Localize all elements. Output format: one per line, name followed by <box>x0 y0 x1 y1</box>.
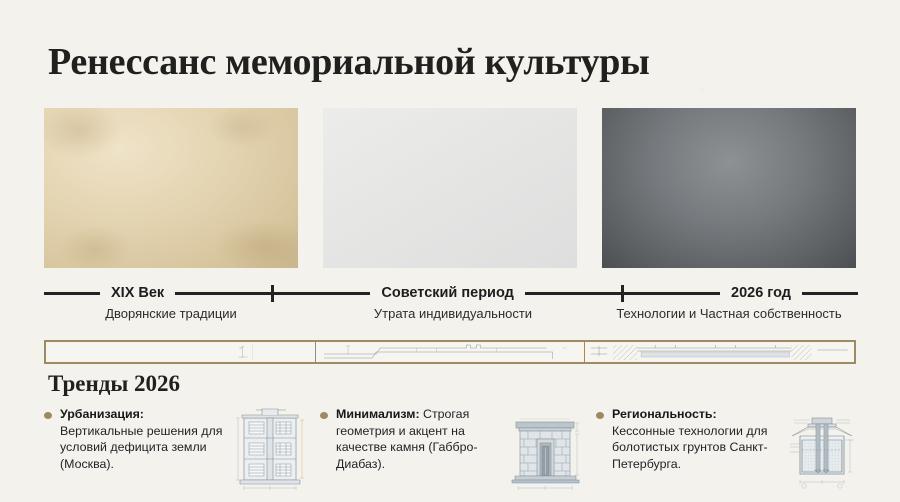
trend-term-1: Урбанизация: <box>60 407 144 421</box>
blueprint-cell-right <box>585 342 854 362</box>
figure-soviet-concrete-box <box>323 108 577 268</box>
timeline-segment-2b <box>624 292 720 295</box>
trends-list: Урбанизация: Вертикальные решения для ус… <box>44 406 858 498</box>
diagram-caisson-foundation-section <box>786 406 858 492</box>
timeline-axis: XIX Век Советский период 2026 год <box>44 285 858 301</box>
blueprint-band <box>44 340 856 364</box>
timeline-subcaptions: Дворянские традиции Утрата индивидуально… <box>44 307 858 327</box>
trend-text-3: Региональность: Кессонные технологии для… <box>608 406 778 498</box>
caisson-foundation-drawing <box>786 406 858 492</box>
figure-neoclassical-mausoleum-sketch <box>44 108 298 268</box>
stone-mausoleum-elevation-drawing <box>510 406 582 492</box>
trend-item-minimalism: Минимализм: Строгая геометрия и акцент н… <box>314 406 590 498</box>
figure-row <box>44 108 856 268</box>
timeline-label-3: 2026 год <box>720 286 802 301</box>
figure-modern-black-granite-mausoleum <box>602 108 856 268</box>
diagram-stone-block-mausoleum-elevation <box>510 406 582 492</box>
blueprint-cell-middle <box>316 342 586 362</box>
trend-body-3: Кессонные технологии для болотистых грун… <box>612 424 768 471</box>
dark-studio-background <box>602 108 856 268</box>
sepia-aging-stains <box>44 108 298 268</box>
timeline-sub-2: Утрата индивидуальности <box>374 307 532 320</box>
slide-root: Ренессанс мемориальной культуры <box>0 0 900 502</box>
bullet-dot-icon <box>320 412 328 419</box>
bullet-dot-icon <box>44 412 52 419</box>
timeline-segment-2a <box>525 292 621 295</box>
timeline-segment-1b <box>274 292 370 295</box>
section-drawing-right <box>585 342 854 362</box>
timeline-segment-1a <box>175 292 271 295</box>
grey-studio-background <box>323 108 577 268</box>
timeline-segment-start <box>44 292 100 295</box>
trend-term-2: Минимализм: <box>336 407 420 421</box>
trend-body-1: Вертикальные решения для условий дефицит… <box>60 424 222 471</box>
section-drawing-middle <box>316 342 585 362</box>
page-title: Ренессанс мемориальной культуры <box>48 40 650 84</box>
blueprint-cell-left <box>46 342 316 362</box>
trend-term-3: Региональность: <box>612 407 717 421</box>
columbarium-section-drawing <box>234 406 306 492</box>
timeline-sub-3: Технологии и Частная собственность <box>616 307 841 320</box>
trends-heading: Тренды 2026 <box>48 371 180 397</box>
timeline-segment-end <box>802 292 858 295</box>
era-timeline: XIX Век Советский период 2026 год Дворян… <box>44 285 858 331</box>
timeline-label-2: Советский период <box>370 286 524 301</box>
trend-item-regionality: Региональность: Кессонные технологии для… <box>590 406 858 498</box>
section-drawing-left <box>46 342 315 362</box>
timeline-label-1: XIX Век <box>100 286 175 301</box>
bullet-dot-icon <box>596 412 604 419</box>
timeline-sub-1: Дворянские традиции <box>105 307 237 320</box>
trend-text-1: Урбанизация: Вертикальные решения для ус… <box>56 406 226 498</box>
diagram-multi-level-columbarium-section <box>234 406 306 492</box>
trend-item-urbanization: Урбанизация: Вертикальные решения для ус… <box>44 406 314 498</box>
trend-text-2: Минимализм: Строгая геометрия и акцент н… <box>332 406 502 498</box>
